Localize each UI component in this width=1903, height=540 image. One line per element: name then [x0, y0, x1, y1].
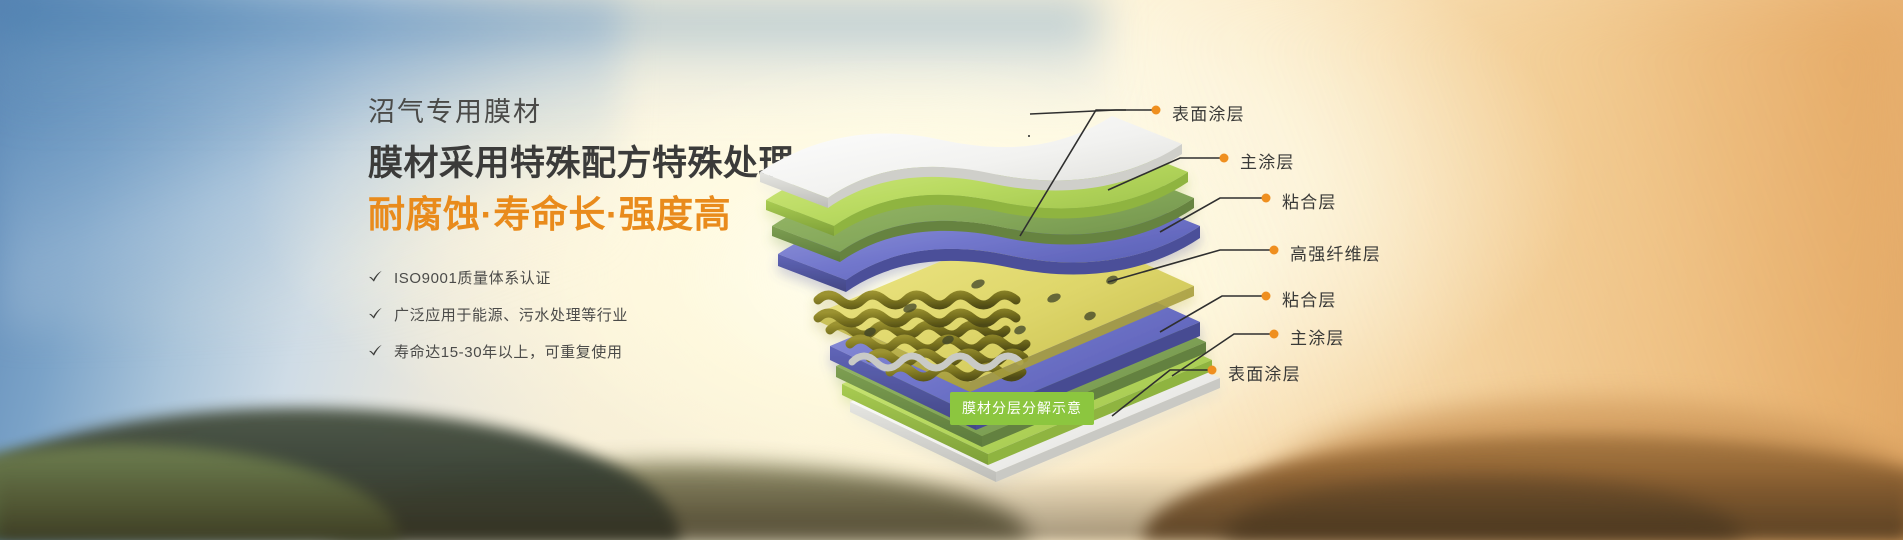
- leader-dot-3: [1262, 194, 1271, 203]
- layer-label-fiber: 高强纤维层: [1290, 240, 1381, 265]
- layer-label-surface-bottom: 表面涂层: [1228, 360, 1301, 385]
- check-mark-icon: [368, 344, 383, 359]
- leader-dot-1: [1152, 106, 1161, 115]
- hero-banner: 沼气专用膜材 膜材采用特殊配方特殊处理 耐腐蚀·寿命长·强度高 ISO9001质…: [0, 0, 1903, 540]
- layer-label-main-top: 主涂层: [1240, 148, 1295, 173]
- layer-label-adhesive-bottom: 粘合层: [1282, 286, 1337, 311]
- layer-label-adhesive-top: 粘合层: [1282, 188, 1337, 213]
- feature-label: 寿命达15-30年以上，可重复使用: [394, 341, 623, 362]
- check-mark-icon: [368, 270, 383, 285]
- check-mark-icon: [368, 307, 383, 322]
- leader-dot-4: [1270, 246, 1279, 255]
- leader-dot-6: [1270, 330, 1279, 339]
- diagram-caption-badge: 膜材分层分解示意: [950, 392, 1094, 425]
- feature-label: 广泛应用于能源、污水处理等行业: [394, 304, 628, 325]
- layer-label-surface-top: 表面涂层: [1172, 100, 1245, 125]
- layer-label-main-bottom: 主涂层: [1290, 324, 1345, 349]
- leader-dot-5: [1262, 292, 1271, 301]
- leader-dot-7: [1208, 366, 1217, 375]
- leader-dot-2: [1220, 154, 1229, 163]
- membrane-layer-diagram: 表面涂层 主涂层 粘合层 高强纤维层 粘合层 主涂层 表面涂层 膜材分层分解示意: [660, 40, 1900, 500]
- feature-label: ISO9001质量体系认证: [394, 267, 551, 288]
